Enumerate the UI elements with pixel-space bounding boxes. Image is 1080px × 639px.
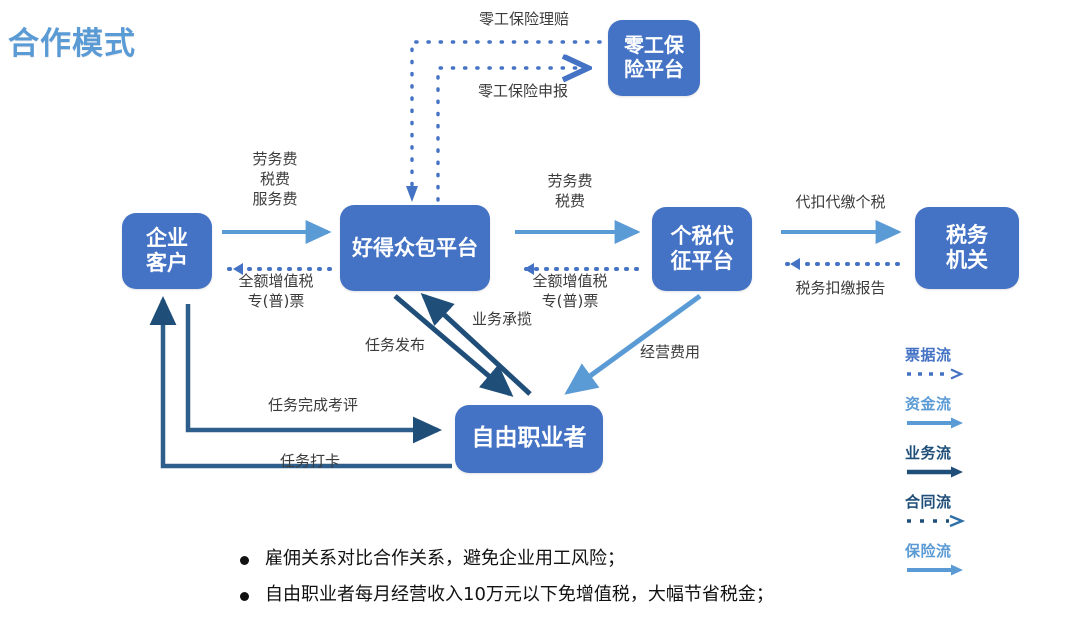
edge-label-enterprise-to-platform: 劳务费 税费 服务费 <box>215 150 335 209</box>
edge-label-platform-to-taxagent: 劳务费 税费 <box>510 172 630 212</box>
edge-label-authority-to-taxagent: 税务扣缴报告 <box>768 279 913 299</box>
legend-swatch-invoice-flow <box>905 366 969 382</box>
legend-label-contract-flow: 合同流 <box>905 495 1025 511</box>
edge-task-checkin <box>163 300 452 466</box>
edge-label-taxagent-to-platform: 全额增值税 专(普)票 <box>508 272 632 312</box>
slide-canvas: 合作模式 企业 客户 好得众包平台 个税代 征平台 税务 机关 零工保 险平台 … <box>0 0 1080 639</box>
node-freelancer[interactable]: 自由职业者 <box>455 405 603 473</box>
legend-item-invoice-flow: 票据流 <box>905 348 1025 384</box>
edge-authority-to-taxagent <box>787 258 898 270</box>
page-title: 合作模式 <box>8 18 136 63</box>
bullet-text: 自由职业者每月经营收入10万元以下免增值税，大幅节省税金； <box>265 584 774 607</box>
edge-label-insurance-declare: 零工保险申报 <box>443 82 603 102</box>
legend-label-invoice-flow: 票据流 <box>905 348 1025 364</box>
node-individual-tax-collection-platform[interactable]: 个税代 征平台 <box>652 207 752 291</box>
legend-label-business-flow: 业务流 <box>905 446 1025 462</box>
edge-label-task-publish: 任务发布 <box>345 336 445 356</box>
node-tax-authority[interactable]: 税务 机关 <box>915 207 1019 289</box>
legend-label-funds-flow: 资金流 <box>905 397 1025 413</box>
node-haode-crowdsourcing-platform[interactable]: 好得众包平台 <box>340 205 490 291</box>
edge-label-operating-expense: 经营费用 <box>620 343 720 363</box>
node-enterprise-client[interactable]: 企业 客户 <box>122 213 212 289</box>
node-gig-insurance-platform[interactable]: 零工保 险平台 <box>608 20 700 96</box>
edge-label-insurance-claim: 零工保险理赔 <box>444 10 604 30</box>
legend-item-contract-flow: 合同流 <box>905 495 1025 531</box>
edge-label-platform-to-enterprise: 全额增值税 专(普)票 <box>215 272 337 312</box>
edge-label-taxagent-to-authority: 代扣代缴个税 <box>768 193 913 213</box>
legend-swatch-funds-flow <box>905 415 969 431</box>
legend-item-business-flow: 业务流 <box>905 446 1025 482</box>
edge-label-task-evaluation: 任务完成考评 <box>238 396 388 416</box>
list-item: 雇佣关系对比合作关系，避免企业用工风险； <box>240 548 1000 571</box>
bullet-list: 雇佣关系对比合作关系，避免企业用工风险； 自由职业者每月经营收入10万元以下免增… <box>240 548 1000 619</box>
bullet-dot-icon <box>240 592 249 601</box>
legend-swatch-business-flow <box>905 464 969 480</box>
edge-label-business-undertake: 业务承揽 <box>452 310 552 330</box>
bullet-dot-icon <box>240 556 249 565</box>
legend-swatch-contract-flow <box>905 513 969 529</box>
bullet-text: 雇佣关系对比合作关系，避免企业用工风险； <box>265 548 625 571</box>
legend-item-funds-flow: 资金流 <box>905 397 1025 433</box>
edge-label-task-checkin: 任务打卡 <box>250 452 370 472</box>
list-item: 自由职业者每月经营收入10万元以下免增值税，大幅节省税金； <box>240 584 1000 607</box>
